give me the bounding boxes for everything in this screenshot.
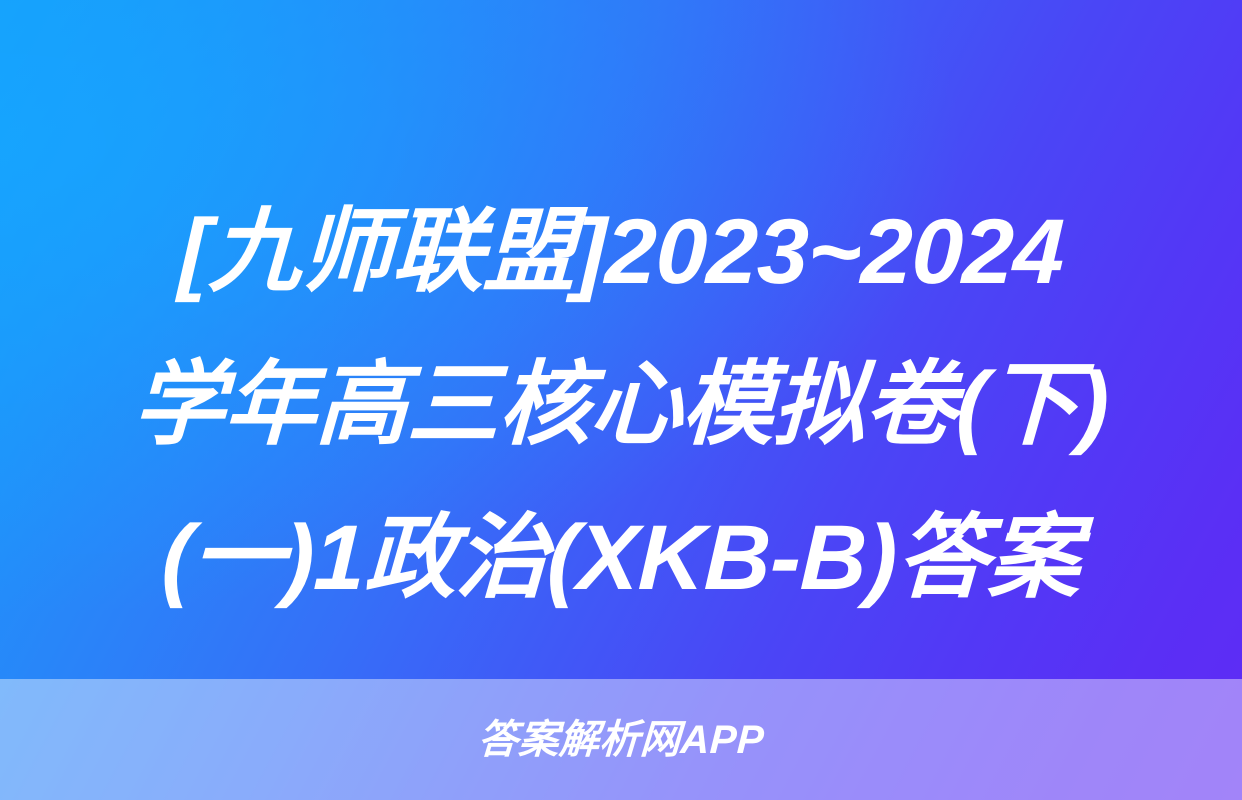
title-line-2: 学年高三核心模拟卷(下) (131, 329, 1112, 482)
poster-canvas: [九师联盟]2023~2024 学年高三核心模拟卷(下) (一)1政治(XKB-… (0, 0, 1242, 800)
watermark-text: 答案解析网APP (477, 720, 765, 760)
watermark-band: 答案解析网APP (0, 679, 1242, 800)
poster-title: [九师联盟]2023~2024 学年高三核心模拟卷(下) (一)1政治(XKB-… (0, 176, 1242, 635)
title-line-3: (一)1政治(XKB-B)答案 (160, 482, 1083, 635)
title-line-1: [九师联盟]2023~2024 (176, 176, 1066, 329)
